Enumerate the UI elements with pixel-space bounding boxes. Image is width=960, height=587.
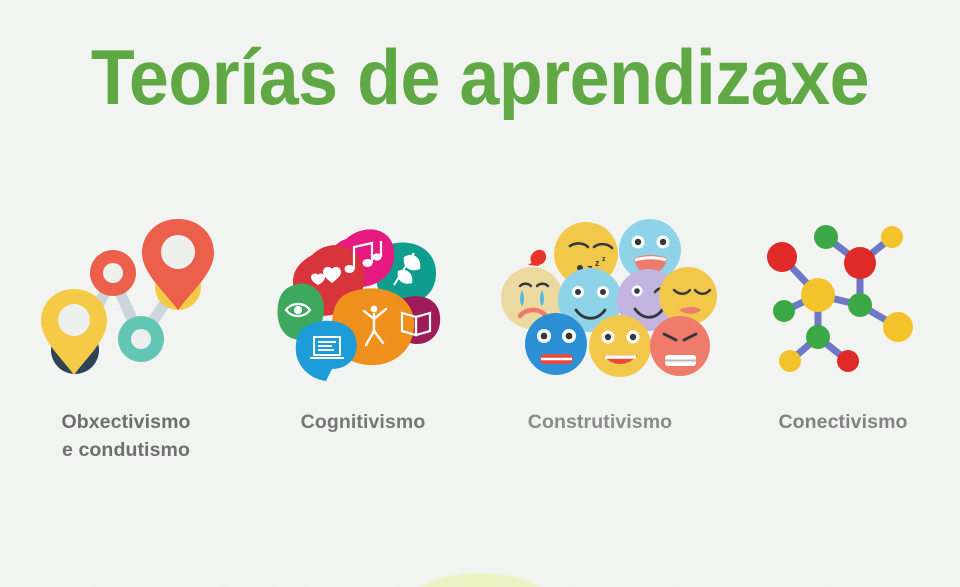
- theory-card-cognitivismo[interactable]: Cognitivismo: [252, 206, 474, 476]
- ring-teal: [118, 316, 164, 362]
- theory-card-conectivismo[interactable]: Conectivismo: [726, 206, 960, 476]
- theory-label-line1: Obxectivismo: [0, 408, 252, 436]
- theory-card-construtivismo[interactable]: z z z: [474, 206, 726, 476]
- emoji-grinning: [589, 315, 651, 377]
- theory-label-line2: e condutismo: [0, 436, 252, 464]
- pin-red: [142, 219, 214, 310]
- theories-row: Obxectivismo e condutismo: [0, 206, 960, 476]
- slide-canvas: Teorías de aprendizaxe: [0, 0, 960, 587]
- emoji-angry: [650, 316, 710, 376]
- theory-label-obxectivismo: Obxectivismo e condutismo: [0, 408, 252, 465]
- colorful-brain-icon: [252, 206, 474, 396]
- bottom-arc-decoration: [409, 573, 551, 587]
- emoji-surprised: [525, 313, 587, 375]
- network-edges: [782, 237, 898, 361]
- emoji-cluster-icon: z z z: [474, 206, 726, 396]
- pin-yellow: [41, 289, 107, 375]
- theory-label-conectivismo: Conectivismo: [726, 408, 960, 436]
- theory-label-line1: Cognitivismo: [252, 408, 474, 436]
- page-title: Teorías de aprendizaxe: [38, 36, 921, 119]
- spark-icon: [528, 250, 546, 266]
- theory-card-obxectivismo[interactable]: Obxectivismo e condutismo: [0, 206, 252, 476]
- theory-label-cognitivismo: Cognitivismo: [252, 408, 474, 436]
- network-nodes-icon: [726, 206, 960, 396]
- theory-label-line1: Conectivismo: [726, 408, 960, 436]
- theory-label-construtivismo: Construtivismo: [474, 408, 726, 436]
- svg-text:z: z: [602, 256, 606, 263]
- svg-text:z: z: [595, 258, 600, 268]
- map-pins-path-icon: [0, 206, 252, 396]
- theory-label-line1: Construtivismo: [474, 408, 726, 436]
- ring-red: [90, 250, 136, 296]
- emoji-relieved: [659, 267, 717, 325]
